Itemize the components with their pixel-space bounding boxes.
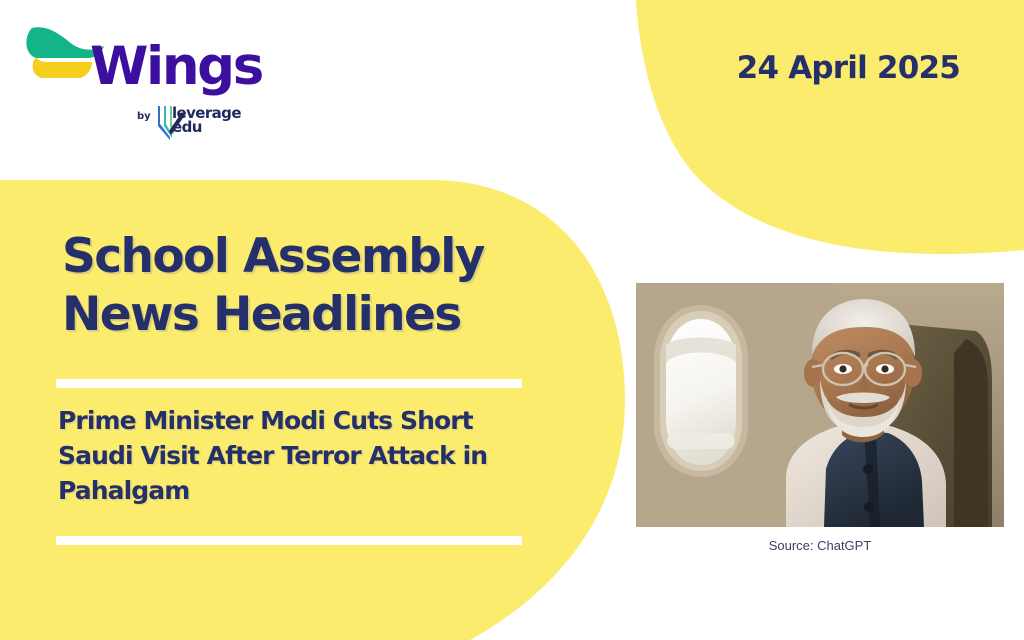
- publication-date: 24 April 2025: [737, 50, 960, 86]
- logo-sub-brand: leverage edu: [172, 106, 241, 134]
- news-photo: [636, 283, 1004, 527]
- divider-top: [56, 379, 522, 388]
- logo-by-label: by: [137, 111, 151, 122]
- logo-wordmark: Wings: [90, 40, 262, 93]
- logo-sub-brand-line2: edu: [172, 120, 241, 134]
- photo-caption: Source: ChatGPT: [636, 538, 1004, 553]
- page-title: School Assembly News Headlines: [62, 228, 532, 344]
- subheadline: Prime Minister Modi Cuts Short Saudi Vis…: [58, 403, 528, 508]
- page-title-line2: News Headlines: [62, 286, 532, 344]
- page-title-line1: School Assembly: [62, 228, 532, 286]
- news-headline-graphic: Wings by leverage edu 24 April 2025 Scho…: [0, 0, 1024, 640]
- divider-bottom: [56, 536, 522, 545]
- brand-logo[interactable]: Wings by leverage edu: [22, 18, 237, 138]
- yellow-blob-top-right: [636, 0, 1024, 254]
